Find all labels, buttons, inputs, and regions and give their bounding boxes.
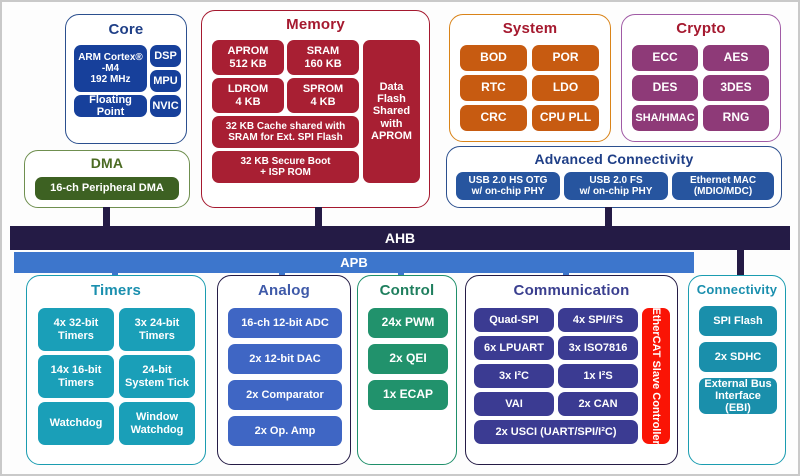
advconn-block-usb-hs-otg[interactable]: USB 2.0 HS OTG w/ on-chip PHY <box>456 172 560 200</box>
comm-block-i2s[interactable]: 1x I²S <box>558 364 638 388</box>
comm-block-ethercat-slave-controller[interactable]: EtherCAT Slave Controller <box>642 308 670 444</box>
panel-analog-title: Analog <box>218 283 350 298</box>
ahb-bus-label: AHB <box>385 230 415 246</box>
crypto-block-3des[interactable]: 3DES <box>703 75 769 101</box>
apb-bus-label: APB <box>340 255 367 270</box>
crypto-block-rng[interactable]: RNG <box>703 105 769 131</box>
memory-block-aprom[interactable]: APROM 512 KB <box>212 40 284 75</box>
memory-block-ldrom[interactable]: LDROM 4 KB <box>212 78 284 113</box>
connector-advconn-to-ahb <box>605 207 612 227</box>
panel-connectivity-title: Connectivity <box>689 283 785 296</box>
advconn-block-usb-fs[interactable]: USB 2.0 FS w/ on-chip PHY <box>564 172 668 200</box>
panel-memory: Memory APROM 512 KB SRAM 160 KB LDROM 4 … <box>201 10 430 208</box>
panel-timers-title: Timers <box>27 283 205 298</box>
system-block-rtc[interactable]: RTC <box>460 75 527 101</box>
comm-block-quad-spi[interactable]: Quad-SPI <box>474 308 554 332</box>
panel-crypto: Crypto ECC AES DES 3DES SHA/HMAC RNG <box>621 14 781 142</box>
core-block-dsp[interactable]: DSP <box>150 45 181 67</box>
timers-block-14x16bit[interactable]: 14x 16-bit Timers <box>38 355 114 398</box>
advconn-block-ethernet-mac[interactable]: Ethernet MAC (MDIO/MDC) <box>672 172 774 200</box>
memory-block-data-flash[interactable]: Data Flash Shared with APROM <box>363 40 420 183</box>
control-block-ecap[interactable]: 1x ECAP <box>368 380 448 410</box>
ethercat-label: EtherCAT Slave Controller <box>650 308 662 444</box>
timers-block-3x24bit[interactable]: 3x 24-bit Timers <box>119 308 195 351</box>
analog-block-adc[interactable]: 16-ch 12-bit ADC <box>228 308 342 338</box>
dma-block-peripheral-dma[interactable]: 16-ch Peripheral DMA <box>35 177 179 200</box>
panel-communication: Communication Quad-SPI 4x SPI/I²S 6x LPU… <box>465 275 678 465</box>
core-block-floating-point[interactable]: Floating Point <box>74 95 147 117</box>
core-block-cortex-m4[interactable]: ARM Cortex® -M4 192 MHz <box>74 45 147 92</box>
ahb-bus: AHB <box>10 226 790 250</box>
timers-block-watchdog[interactable]: Watchdog <box>38 402 114 445</box>
core-block-mpu[interactable]: MPU <box>150 70 181 92</box>
memory-block-cache[interactable]: 32 KB Cache shared with SRAM for Ext. SP… <box>212 116 359 148</box>
memory-block-sram[interactable]: SRAM 160 KB <box>287 40 359 75</box>
apb-bus: APB <box>14 252 694 273</box>
crypto-block-des[interactable]: DES <box>632 75 698 101</box>
panel-control: Control 24x PWM 2x QEI 1x ECAP <box>357 275 457 465</box>
comm-block-can[interactable]: 2x CAN <box>558 392 638 416</box>
panel-connectivity: Connectivity SPI Flash 2x SDHC External … <box>688 275 786 465</box>
panel-system-title: System <box>450 21 610 36</box>
control-block-pwm[interactable]: 24x PWM <box>368 308 448 338</box>
crypto-block-aes[interactable]: AES <box>703 45 769 71</box>
panel-memory-title: Memory <box>202 17 429 32</box>
comm-block-spi-i2s[interactable]: 4x SPI/I²S <box>558 308 638 332</box>
comm-block-lpuart[interactable]: 6x LPUART <box>474 336 554 360</box>
analog-block-comparator[interactable]: 2x Comparator <box>228 380 342 410</box>
panel-advanced-connectivity-title: Advanced Connectivity <box>447 152 781 166</box>
analog-block-dac[interactable]: 2x 12-bit DAC <box>228 344 342 374</box>
panel-dma-title: DMA <box>25 156 189 170</box>
control-block-qei[interactable]: 2x QEI <box>368 344 448 374</box>
comm-block-i2c[interactable]: 3x I²C <box>474 364 554 388</box>
memory-block-sprom[interactable]: SPROM 4 KB <box>287 78 359 113</box>
panel-advanced-connectivity: Advanced Connectivity USB 2.0 HS OTG w/ … <box>446 146 782 208</box>
panel-control-title: Control <box>358 283 456 298</box>
timers-block-system-tick[interactable]: 24-bit System Tick <box>119 355 195 398</box>
panel-analog: Analog 16-ch 12-bit ADC 2x 12-bit DAC 2x… <box>217 275 351 465</box>
connectivity-block-ebi[interactable]: External Bus Interface (EBI) <box>699 378 777 414</box>
system-block-crc[interactable]: CRC <box>460 105 527 131</box>
system-block-bod[interactable]: BOD <box>460 45 527 71</box>
panel-communication-title: Communication <box>466 283 677 298</box>
comm-block-usci[interactable]: 2x USCI (UART/SPI/I²C) <box>474 420 638 444</box>
crypto-block-sha-hmac[interactable]: SHA/HMAC <box>632 105 698 131</box>
connectivity-block-sdhc[interactable]: 2x SDHC <box>699 342 777 372</box>
system-block-ldo[interactable]: LDO <box>532 75 599 101</box>
core-block-nvic[interactable]: NVIC <box>150 95 181 117</box>
block-diagram-root: Core ARM Cortex® -M4 192 MHz DSP MPU Flo… <box>0 0 800 476</box>
panel-system: System BOD POR RTC LDO CRC CPU PLL <box>449 14 611 142</box>
timers-block-window-watchdog[interactable]: Window Watchdog <box>119 402 195 445</box>
panel-dma: DMA 16-ch Peripheral DMA <box>24 150 190 208</box>
connectivity-block-spi-flash[interactable]: SPI Flash <box>699 306 777 336</box>
timers-block-4x32bit[interactable]: 4x 32-bit Timers <box>38 308 114 351</box>
crypto-block-ecc[interactable]: ECC <box>632 45 698 71</box>
analog-block-op-amp[interactable]: 2x Op. Amp <box>228 416 342 446</box>
connector-dma-to-ahb <box>103 207 110 227</box>
system-block-por[interactable]: POR <box>532 45 599 71</box>
connector-memory-to-ahb <box>315 207 322 227</box>
panel-timers: Timers 4x 32-bit Timers 3x 24-bit Timers… <box>26 275 206 465</box>
panel-core: Core ARM Cortex® -M4 192 MHz DSP MPU Flo… <box>65 14 187 144</box>
memory-block-secure-boot[interactable]: 32 KB Secure Boot + ISP ROM <box>212 151 359 183</box>
panel-core-title: Core <box>66 22 186 37</box>
comm-block-vai[interactable]: VAI <box>474 392 554 416</box>
comm-block-iso7816[interactable]: 3x ISO7816 <box>558 336 638 360</box>
system-block-cpu-pll[interactable]: CPU PLL <box>532 105 599 131</box>
panel-crypto-title: Crypto <box>622 21 780 36</box>
